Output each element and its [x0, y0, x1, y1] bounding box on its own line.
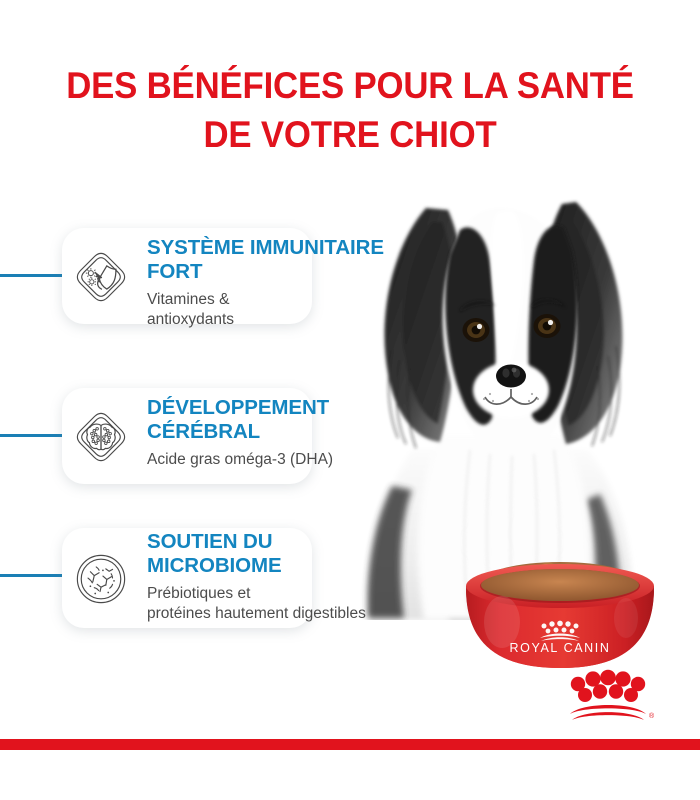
shield-germ-icon	[74, 250, 128, 304]
connector-line	[0, 434, 63, 437]
benefit-item-immune: SYSTÈME IMMUNITAIRE FORT Vitamines & ant…	[0, 228, 430, 324]
benefit-text: DÉVELOPPEMENT CÉRÉBRAL Acide gras oméga-…	[147, 396, 437, 470]
benefit-title: SYSTÈME IMMUNITAIRE FORT	[147, 236, 437, 284]
bowl-trademark: ®	[638, 642, 642, 649]
page-title: DES BÉNÉFICES POUR LA SANTÉ DE VOTRE CHI…	[21, 62, 679, 160]
benefit-subtitle: Prébiotiques et protéines hautement dige…	[147, 584, 437, 624]
benefit-item-microbiome: SOUTIEN DU MICROBIOME Prébiotiques et pr…	[0, 528, 430, 624]
brain-icon	[74, 410, 128, 464]
royal-canin-crown-logo: ®	[560, 668, 656, 726]
logo-trademark: ®	[649, 712, 655, 720]
bottom-red-bar	[0, 739, 700, 750]
benefit-title: DÉVELOPPEMENT CÉRÉBRAL	[147, 396, 437, 444]
benefit-title: SOUTIEN DU MICROBIOME	[147, 530, 437, 578]
connector-line	[0, 574, 63, 577]
connector-line	[0, 274, 63, 277]
bowl-brand-text: ROYAL CANIN	[510, 641, 611, 655]
benefit-text: SYSTÈME IMMUNITAIRE FORT Vitamines & ant…	[147, 236, 437, 330]
product-benefits-infographic: DES BÉNÉFICES POUR LA SANTÉ DE VOTRE CHI…	[0, 0, 700, 800]
benefit-subtitle: Vitamines & antioxydants	[147, 290, 437, 330]
microbiome-bacteria-icon	[74, 552, 128, 606]
benefit-item-brain: DÉVELOPPEMENT CÉRÉBRAL Acide gras oméga-…	[0, 388, 430, 484]
benefit-text: SOUTIEN DU MICROBIOME Prébiotiques et pr…	[147, 530, 437, 624]
benefit-subtitle: Acide gras oméga-3 (DHA)	[147, 450, 437, 470]
red-dog-bowl-with-kibble: ROYAL CANIN ®	[440, 552, 680, 672]
